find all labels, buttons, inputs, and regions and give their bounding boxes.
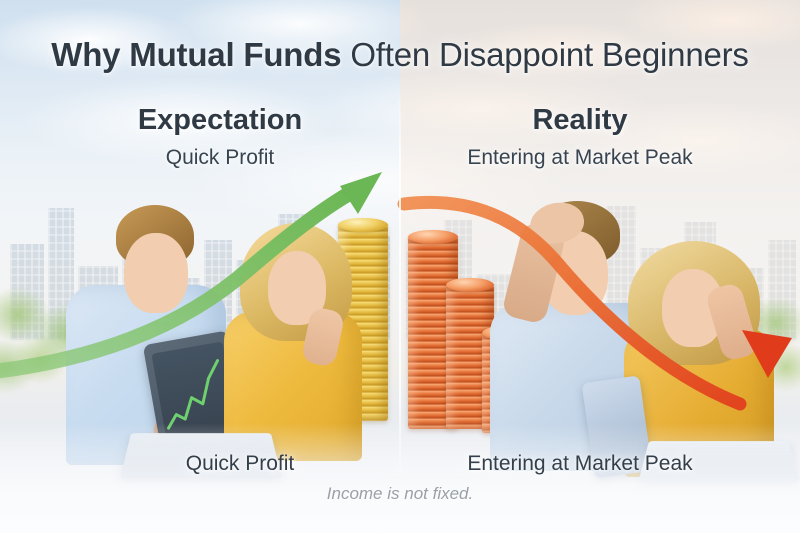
infographic-canvas: Why Mutual Funds Often Disappoint Beginn…: [0, 0, 800, 533]
person-happy-woman: [214, 181, 384, 461]
footnote: Income is not fixed.: [0, 484, 800, 504]
caption-left: Quick Profit: [60, 452, 420, 476]
expectation-heading: Expectation: [40, 104, 400, 137]
title-bold-part: Why Mutual Funds: [51, 36, 341, 73]
page-title: Why Mutual Funds Often Disappoint Beginn…: [0, 36, 800, 74]
expectation-subheading: Quick Profit: [40, 146, 400, 170]
panel-heading-right: Reality Entering at Market Peak: [400, 104, 760, 170]
caption-right: Entering at Market Peak: [400, 452, 760, 476]
reality-heading: Reality: [400, 104, 760, 137]
reality-subheading: Entering at Market Peak: [400, 146, 760, 170]
face: [124, 233, 188, 313]
panel-heading-left: Expectation Quick Profit: [40, 104, 400, 170]
title-regular-part: Often Disappoint Beginners: [341, 36, 748, 73]
